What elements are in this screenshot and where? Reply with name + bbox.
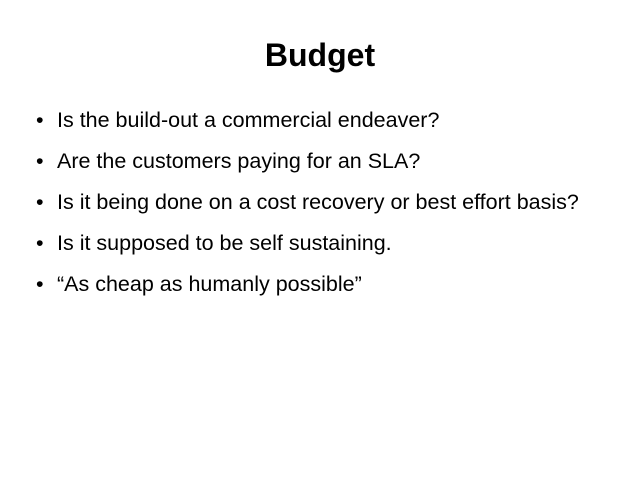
list-item: • “As cheap as humanly possible” [28, 269, 620, 299]
list-item-text: Are the customers paying for an SLA? [57, 146, 620, 176]
bullet-list: • Is the build-out a commercial endeaver… [28, 105, 620, 299]
list-item: • Are the customers paying for an SLA? [28, 146, 620, 176]
slide: Budget • Is the build-out a commercial e… [0, 0, 640, 480]
list-item: • Is the build-out a commercial endeaver… [28, 105, 620, 135]
bullet-point-icon: • [36, 269, 50, 299]
bullet-point-icon: • [36, 187, 50, 217]
list-item-text: Is it supposed to be self sustaining. [57, 228, 620, 258]
list-item-text: Is it being done on a cost recovery or b… [57, 187, 620, 217]
bullet-point-icon: • [36, 228, 50, 258]
page-title: Budget [0, 36, 640, 74]
list-item-text: Is the build-out a commercial endeaver? [57, 105, 620, 135]
list-item: • Is it supposed to be self sustaining. [28, 228, 620, 258]
list-item: • Is it being done on a cost recovery or… [28, 187, 620, 217]
list-item-text: “As cheap as humanly possible” [57, 269, 620, 299]
bullet-point-icon: • [36, 105, 50, 135]
bullet-point-icon: • [36, 146, 50, 176]
